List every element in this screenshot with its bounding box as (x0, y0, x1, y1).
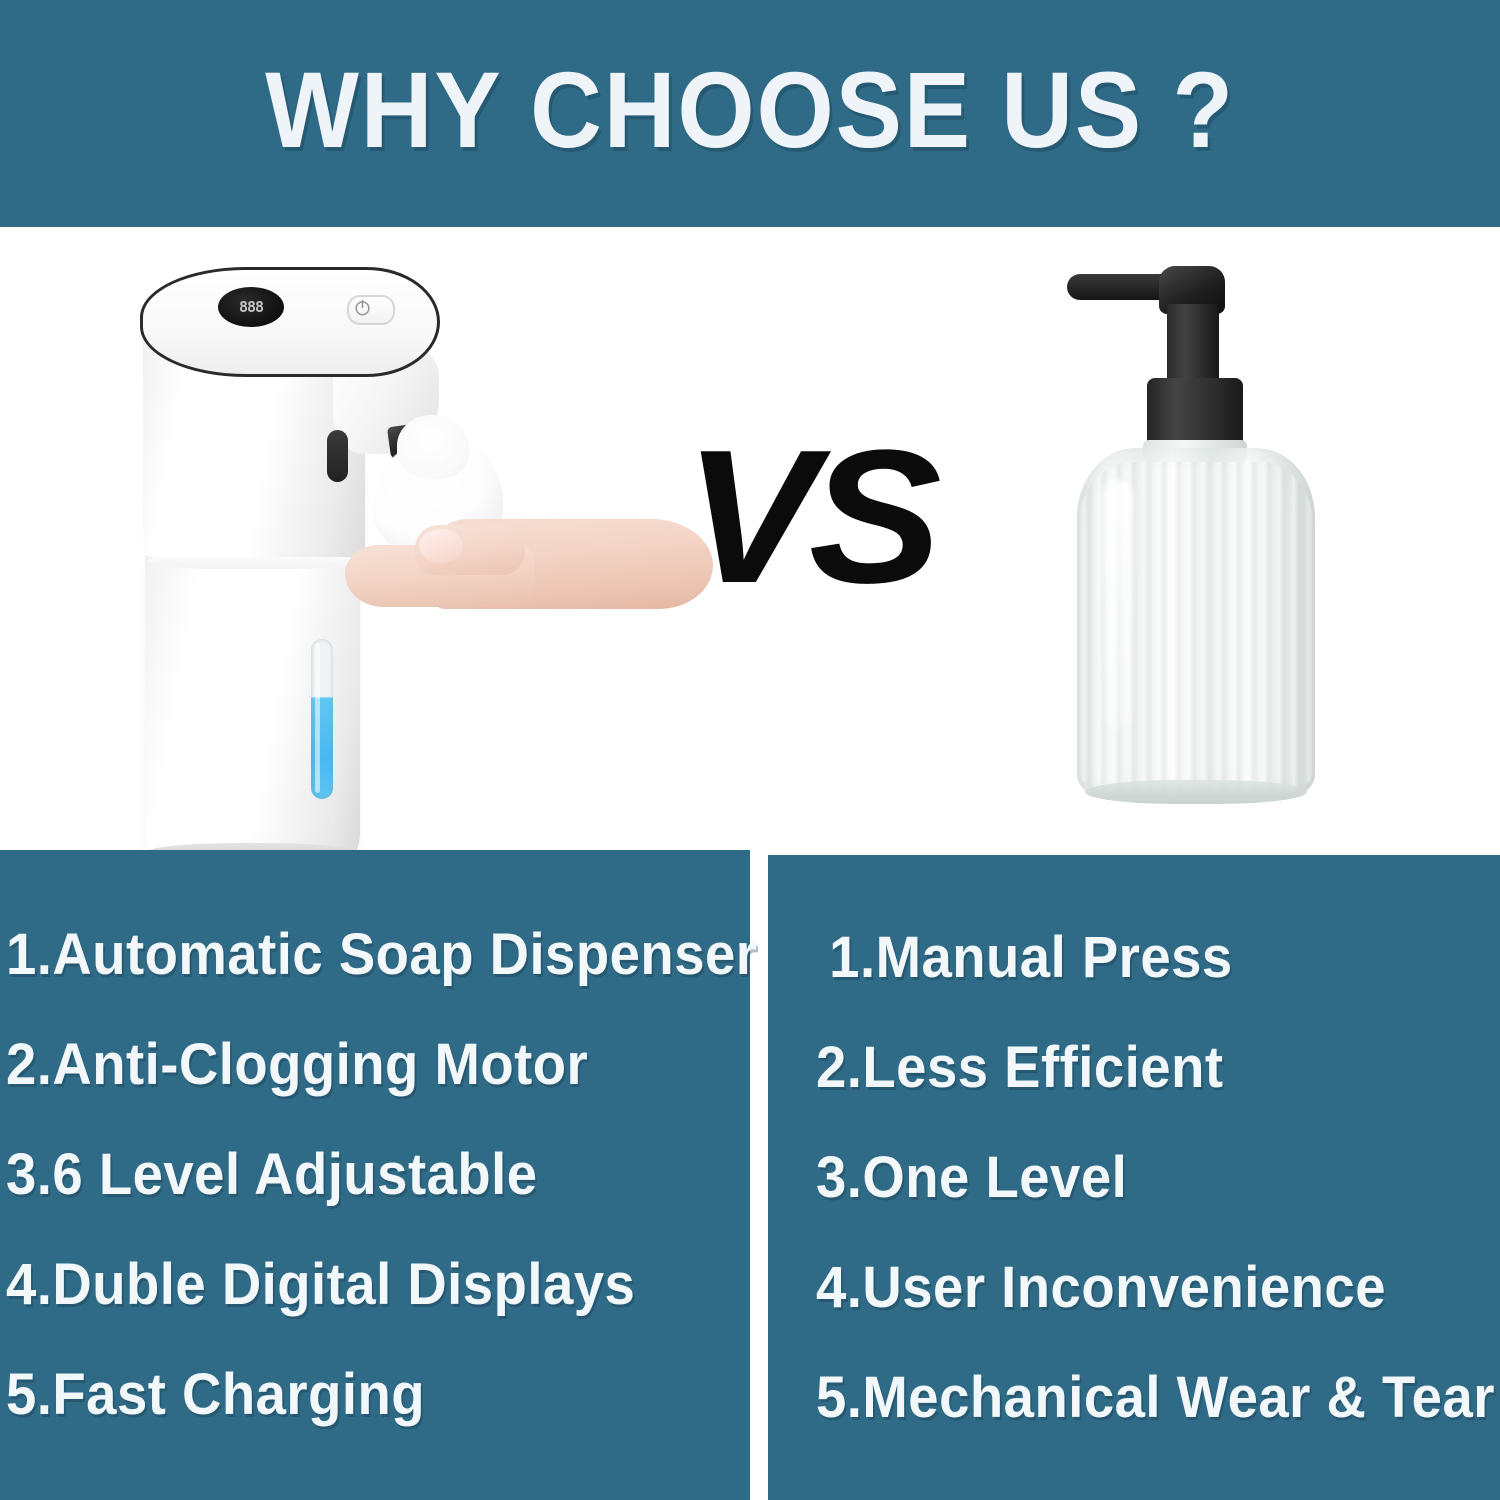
benefits-list: 1.Automatic Soap Dispenser 2.Anti-Cloggi… (0, 850, 756, 1500)
digital-display-value: 888 (218, 287, 284, 327)
bottle-base (1085, 780, 1307, 804)
manual-dispenser-drawbacks-panel: 1.Manual Press 2.Less Efficient 3.One Le… (768, 855, 1500, 1500)
list-item: 1.Manual Press (816, 903, 1500, 1013)
list-item: 2.Anti-Clogging Motor (6, 1010, 711, 1120)
automatic-soap-dispenser-image: 888 (135, 247, 655, 847)
list-item: 3.One Level (816, 1123, 1500, 1233)
infographic-page: WHY CHOOSE US ? 888 (0, 0, 1500, 1500)
page-title: WHY CHOOSE US ? (265, 56, 1235, 164)
hand-thumbnail (419, 529, 463, 563)
digital-display: 888 (218, 287, 284, 327)
list-item: 1.Automatic Soap Dispenser (6, 900, 711, 1010)
product-comparison-area: 888 VS (0, 227, 1500, 850)
power-icon (353, 298, 372, 317)
hand-illustration (345, 505, 713, 625)
level-indicator-gloss (315, 643, 320, 793)
list-item: 5.Fast Charging (6, 1340, 711, 1450)
drawbacks-list: 1.Manual Press 2.Less Efficient 3.One Le… (768, 855, 1500, 1500)
list-item: 4.Duble Digital Displays (6, 1230, 711, 1340)
dispenser-top-plate-inner (144, 271, 436, 371)
list-item: 3.6 Level Adjustable (6, 1120, 711, 1230)
manual-soap-bottle-image (1055, 252, 1335, 822)
header-banner: WHY CHOOSE US ? (0, 0, 1500, 227)
motion-sensor-window (327, 430, 348, 482)
soap-foam-top (397, 415, 469, 479)
bottle-highlight (1103, 480, 1133, 730)
list-item: 5.Mechanical Wear & Tear (816, 1343, 1500, 1453)
list-item: 4.User Inconvenience (816, 1233, 1500, 1343)
automatic-dispenser-benefits-panel: 1.Automatic Soap Dispenser 2.Anti-Cloggi… (0, 850, 750, 1500)
pump-collar (1147, 378, 1243, 446)
vs-label: VS (684, 422, 933, 612)
list-item: 2.Less Efficient (816, 1013, 1500, 1123)
